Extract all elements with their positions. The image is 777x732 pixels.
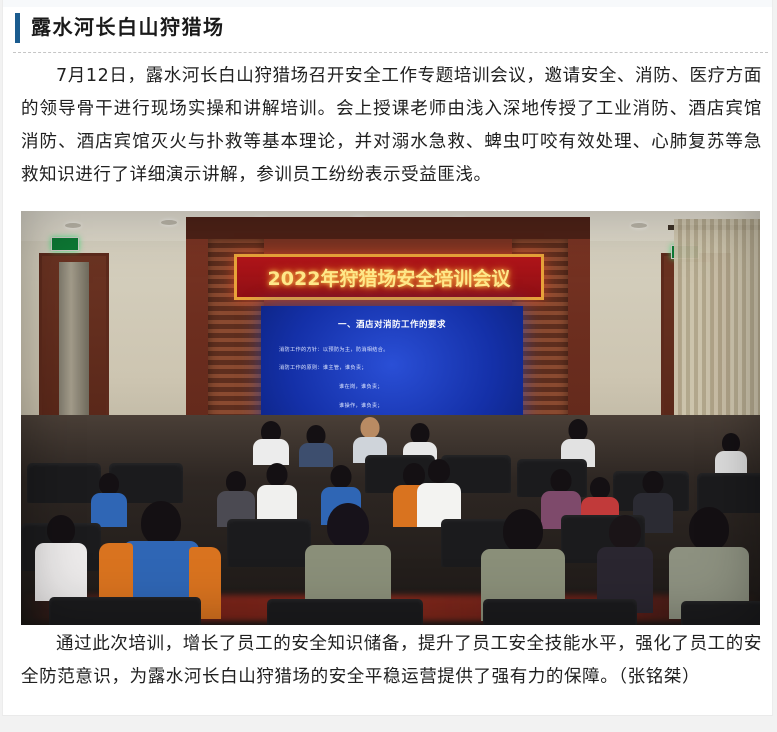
attendee-head — [327, 503, 369, 549]
attendee-head — [267, 463, 288, 486]
auditorium-seat — [483, 599, 637, 625]
attendee — [35, 515, 87, 601]
attendee-head — [47, 515, 75, 545]
attendee-torso — [715, 451, 747, 475]
attendee-torso — [35, 543, 87, 601]
led-banner-text: 2022年狩猎场安全培训会议 — [268, 264, 511, 291]
attendee-head — [226, 471, 246, 493]
attendee-torso — [299, 443, 333, 467]
attendee-head — [569, 419, 588, 441]
attendee-head — [411, 423, 430, 444]
attendee — [253, 421, 289, 465]
attendee-head — [551, 469, 572, 492]
ceiling-light — [631, 223, 647, 228]
article-photo: 2022年狩猎场安全培训会议 一、酒店对消防工作的要求 消防工作的方针：以预防为… — [21, 211, 760, 625]
attendee-head — [590, 477, 610, 499]
title-accent-bar — [15, 13, 20, 43]
attendee-head — [609, 515, 641, 549]
top-strip — [3, 0, 772, 7]
exit-sign-left — [51, 237, 79, 251]
attendee — [257, 463, 297, 525]
attendee — [417, 459, 461, 527]
ceiling-light — [161, 220, 177, 225]
attendee-head — [722, 433, 740, 453]
attendee-head — [331, 465, 352, 488]
attendee — [91, 473, 127, 527]
slide-bullet: 消防工作的方针：以预防为主，防消相结合。 — [279, 346, 389, 353]
ceiling-light — [65, 223, 81, 228]
auditorium-seat — [681, 601, 760, 625]
attendee — [299, 425, 333, 467]
slide-title: 一、酒店对消防工作的要求 — [261, 318, 523, 330]
auditorium-seat — [49, 597, 201, 625]
attendee-torso — [253, 439, 289, 465]
photo-scene: 2022年狩猎场安全培训会议 一、酒店对消防工作的要求 消防工作的方针：以预防为… — [21, 211, 760, 625]
page-title: 露水河长白山狩猎场 — [31, 10, 225, 44]
attendee-head — [503, 509, 543, 553]
attendee-torso — [91, 493, 127, 527]
attendee-head — [689, 507, 729, 551]
auditorium-seat — [267, 599, 423, 625]
auditorium-seat — [227, 519, 311, 567]
article-paragraph-outro: 通过此次培训，增长了员工的安全知识储备，提升了员工安全技能水平，强化了员工的安全… — [21, 628, 762, 694]
title-row: 露水河长白山狩猎场 — [3, 10, 772, 48]
attendee — [715, 433, 747, 475]
slide-bullet: 谁操作，谁负责； — [339, 402, 383, 409]
attendee-head — [428, 459, 450, 483]
title-divider — [13, 52, 768, 53]
article-card: 露水河长白山狩猎场 7月12日，露水河长白山狩猎场召开安全工作专题培训会议，邀请… — [2, 0, 773, 716]
attendee-head — [361, 417, 380, 438]
article-paragraph-intro: 7月12日，露水河长白山狩猎场召开安全工作专题培训会议，邀请安全、消防、医疗方面… — [21, 60, 762, 192]
led-banner: 2022年狩猎场安全培训会议 — [234, 254, 544, 300]
attendee-head — [99, 473, 119, 495]
audience-area — [21, 415, 760, 625]
auditorium-seat — [27, 463, 101, 503]
attendee-head — [141, 501, 181, 545]
slide-bullet: 谁在岗，谁负责； — [339, 383, 383, 390]
attendee-head — [643, 471, 664, 494]
slide-bullet: 消防工作的原则：谁主管，谁负责； — [279, 364, 367, 371]
